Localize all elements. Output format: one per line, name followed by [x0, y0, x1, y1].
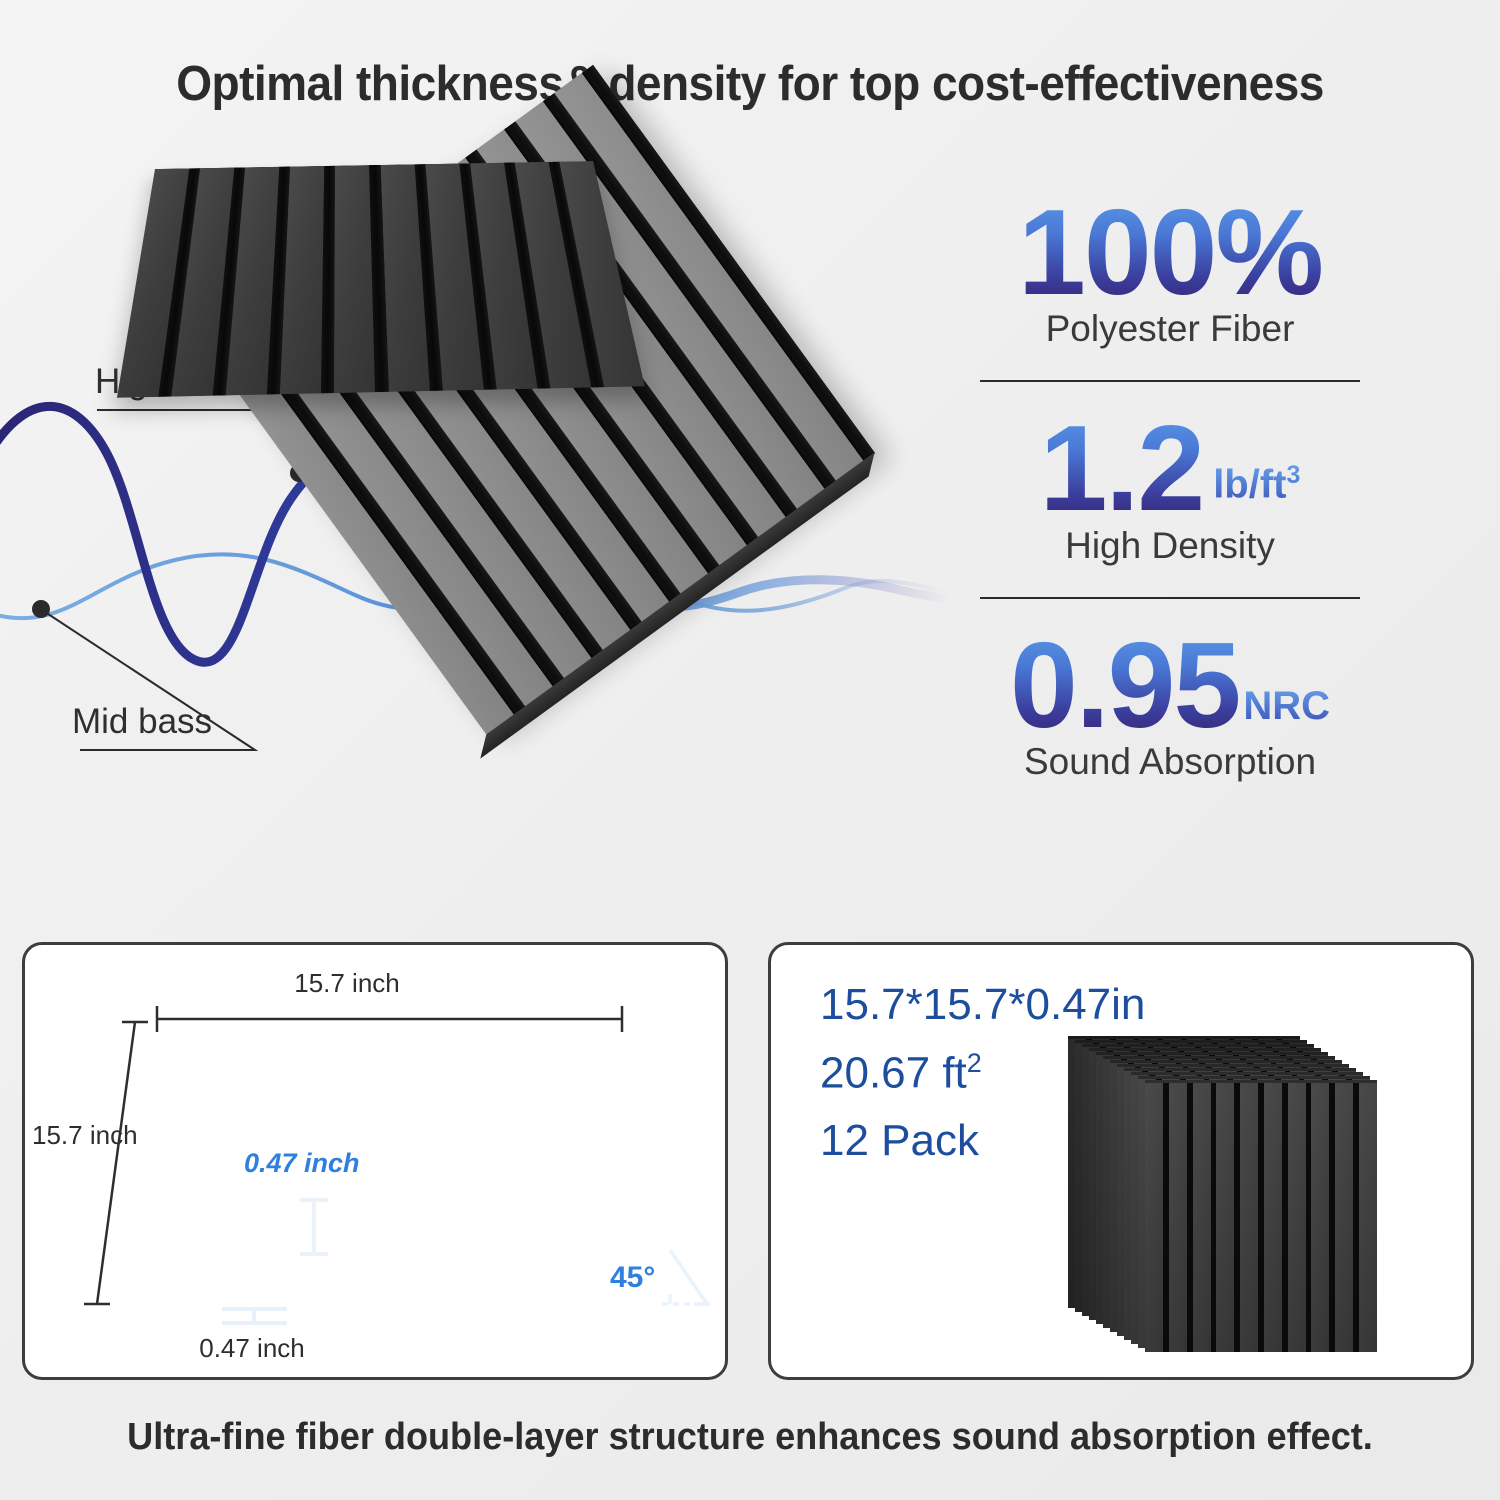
dimension-thickness-label: 0.47 inch	[244, 1148, 360, 1179]
dimension-measure-lines	[22, 942, 728, 1380]
mid-bass-label: Mid bass	[72, 702, 212, 742]
stat-nrc: 0.95 NRC Sound Absorption	[960, 623, 1380, 783]
spec-line-area: 20.67 ft2	[820, 1048, 982, 1099]
spec-line-pack-count: 12 Pack	[820, 1116, 979, 1166]
panel-stack-illustration	[1068, 1036, 1388, 1346]
stat-polyester-fiber: 100% Polyester Fiber	[960, 190, 1380, 350]
angle-triangle-icon	[662, 1250, 710, 1304]
thickness-marker-vertical	[300, 1200, 328, 1254]
stat-value: 0.95	[1010, 623, 1239, 747]
stat-density: 1.2 lb/ft3 High Density	[960, 406, 1380, 566]
area-superscript: 2	[967, 1048, 982, 1078]
dimension-height-label: 15.7 inch	[32, 1120, 138, 1151]
dimension-angle-label: 45°	[610, 1261, 655, 1295]
dimension-width-label: 15.7 inch	[294, 968, 400, 999]
page-title: Optimal thickness& density for top cost-…	[45, 56, 1455, 112]
stat-value: 1.2	[1040, 406, 1204, 530]
mid-bass-marker-dot	[32, 600, 50, 618]
dimension-groove-width-label: 0.47 inch	[199, 1333, 305, 1364]
stat-unit: lb/ft3	[1213, 461, 1300, 531]
stat-divider-2	[980, 597, 1360, 599]
footer-caption: Ultra-fine fiber double-layer structure …	[38, 1416, 1463, 1459]
stats-column: 100% Polyester Fiber 1.2 lb/ft3 High Den…	[960, 190, 1380, 783]
stat-divider-1	[980, 380, 1360, 382]
spec-line-dimensions: 15.7*15.7*0.47in	[820, 980, 1145, 1030]
stat-value: 100%	[1018, 190, 1322, 314]
stat-unit: NRC	[1243, 684, 1330, 747]
stat-caption: Sound Absorption	[960, 741, 1380, 783]
stat-caption: High Density	[960, 525, 1380, 567]
thickness-marker-bottom	[222, 1309, 287, 1323]
unit-superscript: 3	[1287, 461, 1301, 489]
dimension-panel-illustration	[117, 161, 645, 398]
